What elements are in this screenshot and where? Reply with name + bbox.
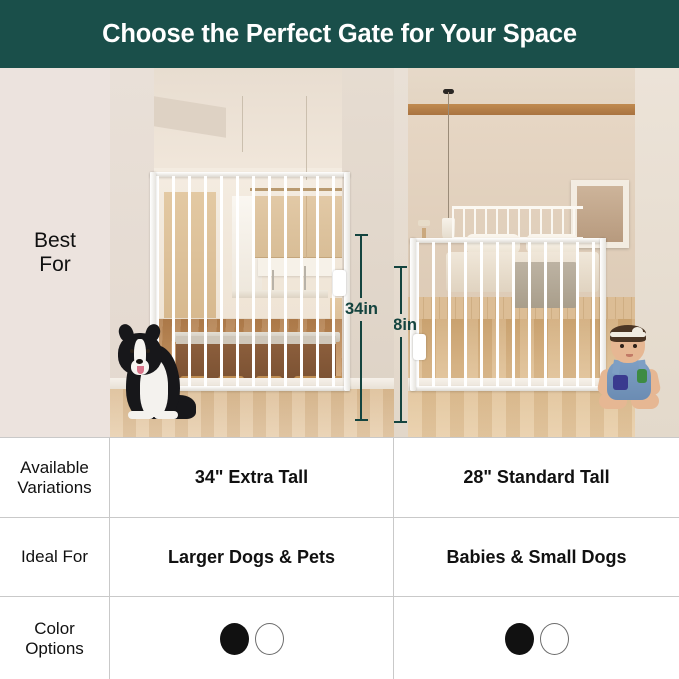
cell-colors-right — [394, 597, 679, 679]
baby-child — [597, 327, 663, 413]
color-swatch-black[interactable] — [220, 623, 249, 655]
border-collie-dog — [118, 289, 198, 419]
dog-nose — [136, 359, 143, 364]
gate-bars — [416, 242, 600, 387]
baby-eye-right — [633, 344, 637, 348]
row-label-colors-line1: Color — [34, 619, 75, 638]
measurement-34in: 34in — [345, 234, 378, 432]
page-title: Choose the Perfect Gate for Your Space — [102, 20, 577, 49]
baby-headband-bow — [632, 327, 643, 336]
measure-cap-bottom — [394, 421, 407, 423]
comparison-infographic: Choose the Perfect Gate for Your Space B… — [0, 0, 679, 679]
table-row-ideal-for: Ideal For Larger Dogs & Pets Babies & Sm… — [0, 518, 679, 597]
row-label-color-options: Color Options — [0, 597, 110, 679]
measure-cap-bottom — [355, 419, 368, 421]
pet-gate-standard-tall — [410, 238, 606, 391]
color-swatches-right — [505, 623, 569, 655]
baby-mouth — [626, 354, 633, 357]
row-label-colors-line2: Options — [25, 639, 84, 658]
color-swatch-white[interactable] — [540, 623, 569, 655]
table-row-color-options: Color Options — [0, 597, 679, 679]
measure-value-34in: 34in — [345, 298, 378, 321]
product-image-extra-tall: 34in — [110, 68, 394, 437]
dog-eye-right — [146, 349, 150, 353]
cell-variations-left: 34" Extra Tall — [110, 438, 394, 517]
measure-value-28in: 28in — [394, 314, 417, 337]
cell-ideal-right: Babies & Small Dogs — [394, 518, 679, 596]
row-label-variations-line1: Available — [20, 458, 89, 477]
cell-colors-left — [110, 597, 394, 679]
measurement-28in: 28in — [394, 266, 417, 432]
hero-row: Best For — [0, 68, 679, 438]
crown-molding — [408, 104, 635, 115]
row-label-best-for-line2: For — [39, 253, 71, 276]
header-banner: Choose the Perfect Gate for Your Space — [0, 0, 679, 68]
cell-variations-right: 28" Standard Tall — [394, 438, 679, 517]
dog-tongue — [137, 366, 144, 374]
product-image-standard-tall: 28in — [394, 68, 679, 437]
measure-line-upper — [400, 268, 402, 314]
color-swatches-left — [220, 623, 284, 655]
row-label-best-for: Best For — [0, 68, 110, 437]
row-label-ideal-for: Ideal For — [0, 518, 110, 596]
baby-eye-left — [620, 344, 624, 348]
color-swatch-black[interactable] — [505, 623, 534, 655]
dog-paw-right — [154, 411, 178, 419]
row-label-best-for-line1: Best — [34, 229, 76, 252]
baby-toy-blue — [613, 375, 628, 390]
row-label-best-for-text: Best For — [34, 229, 76, 276]
row-label-available-variations: Available Variations — [0, 438, 110, 517]
dog-eye-left — [130, 349, 134, 353]
cell-ideal-left: Larger Dogs & Pets — [110, 518, 394, 596]
pendant-cord — [448, 92, 449, 220]
color-swatch-white[interactable] — [255, 623, 284, 655]
row-label-variations-line2: Variations — [17, 478, 91, 497]
pendant-cord-1 — [242, 96, 243, 152]
dog-paw-left — [128, 411, 154, 419]
measure-line-upper — [360, 236, 362, 298]
baby-toy-green — [637, 369, 647, 383]
table-row-variations: Available Variations 34" Extra Tall 28" … — [0, 438, 679, 518]
measure-line-lower — [400, 337, 402, 421]
measure-line-lower — [360, 321, 362, 419]
pendant-cord-2 — [306, 96, 307, 182]
